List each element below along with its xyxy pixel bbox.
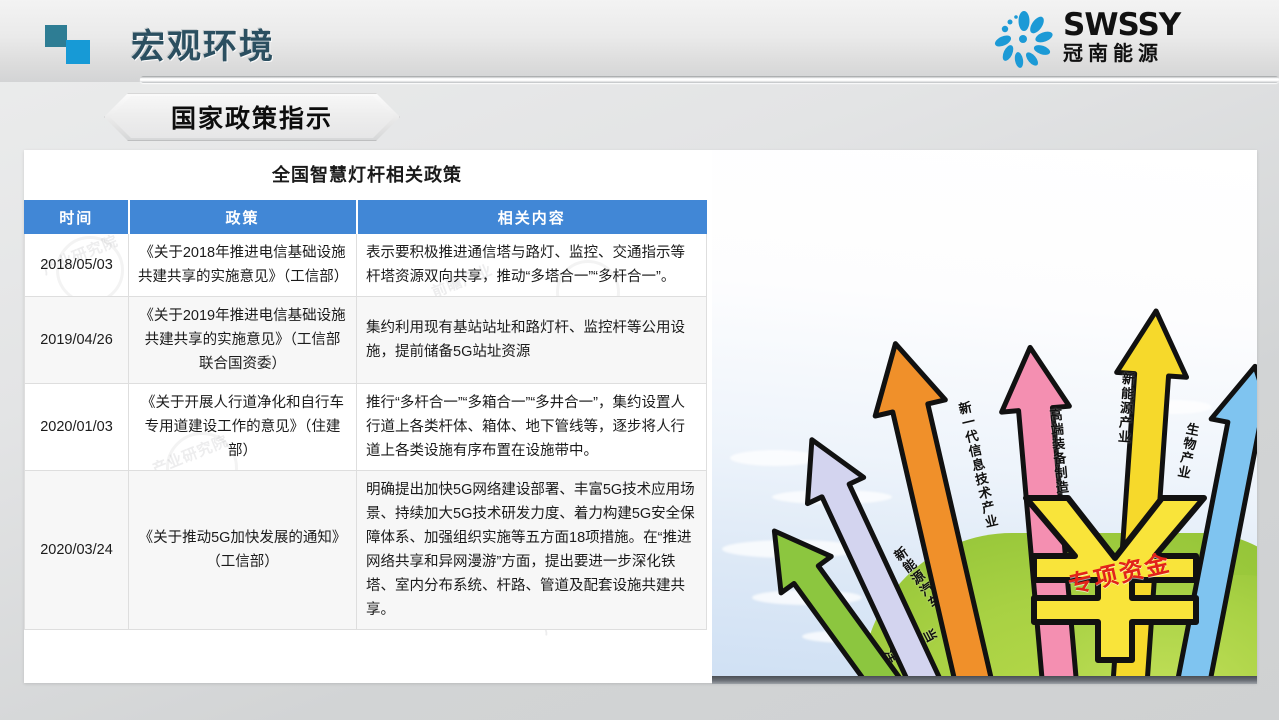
cell-content: 推行“多杆合一”“多箱合一”“多井合一”，集约设置人行道上各类杆体、箱体、地下管…: [357, 384, 707, 471]
cell-time: 2020/03/24: [25, 471, 129, 630]
table-row: 2019/04/26 《关于2019年推进电信基础设施共建共享的实施意见》（工信…: [25, 297, 707, 384]
column-header-policy: 政策: [129, 201, 357, 234]
accent-square-dark-icon: [45, 25, 67, 47]
logo-text: SWSSY 冠南能源: [1063, 9, 1180, 66]
table-title: 全国智慧灯杆相关政策: [24, 161, 710, 187]
policy-table: 时间 政策 相关内容 2018/05/03 《关于2018年推进电信基础设施共建…: [24, 200, 707, 630]
illustration-base-shadow: [712, 676, 1257, 684]
table-header-row: 时间 政策 相关内容: [25, 201, 707, 234]
column-header-time: 时间: [25, 201, 129, 234]
header-divider: [140, 76, 1279, 83]
industry-arrows-illustration: 当代海洋业 新能源汽车 节能环保产业 新一代信息技术产业: [712, 150, 1257, 683]
logo-chinese-name: 冠南能源: [1063, 42, 1180, 66]
logo-english-name: SWSSY: [1063, 9, 1180, 41]
page-title: 宏观环境: [131, 19, 275, 68]
cell-policy: 《关于2018年推进电信基础设施共建共享的实施意见》（工信部）: [129, 234, 357, 297]
slide-header: 宏观环境: [0, 0, 1279, 82]
slide: 宏观环境: [0, 0, 1279, 720]
cell-policy: 《关于推动5G加快发展的通知》（工信部）: [129, 471, 357, 630]
cell-time: 2020/01/03: [25, 384, 129, 471]
table-row: 2020/01/03 《关于开展人行道净化和自行车专用道建设工作的意见》（住建部…: [25, 384, 707, 471]
column-header-content: 相关内容: [357, 201, 707, 234]
cell-time: 2019/04/26: [25, 297, 129, 384]
cell-policy: 《关于2019年推进电信基础设施共建共享的实施意见》（工信部联合国资委）: [129, 297, 357, 384]
table-row: 2018/05/03 《关于2018年推进电信基础设施共建共享的实施意见》（工信…: [25, 234, 707, 297]
cell-content: 表示要积极推进通信塔与路灯、监控、交通指示等杆塔资源双向共享，推动“多塔合一”“…: [357, 234, 707, 297]
cell-time: 2018/05/03: [25, 234, 129, 297]
cell-content: 明确提出加快5G网络建设部署、丰富5G技术应用场景、持续加大5G技术研发力度、着…: [357, 471, 707, 630]
company-logo: SWSSY 冠南能源: [993, 8, 1261, 70]
cell-policy: 《关于开展人行道净化和自行车专用道建设工作的意见》（住建部）: [129, 384, 357, 471]
section-banner-label: 国家政策指示: [104, 93, 400, 141]
water-droplet-flower-icon: [993, 10, 1055, 68]
table-row: 2020/03/24 《关于推动5G加快发展的通知》（工信部） 明确提出加快5G…: [25, 471, 707, 630]
cell-content: 集约利用现有基站站址和路灯杆、监控杆等公用设施，提前储备5G站址资源: [357, 297, 707, 384]
accent-square-bright-icon: [66, 40, 90, 64]
